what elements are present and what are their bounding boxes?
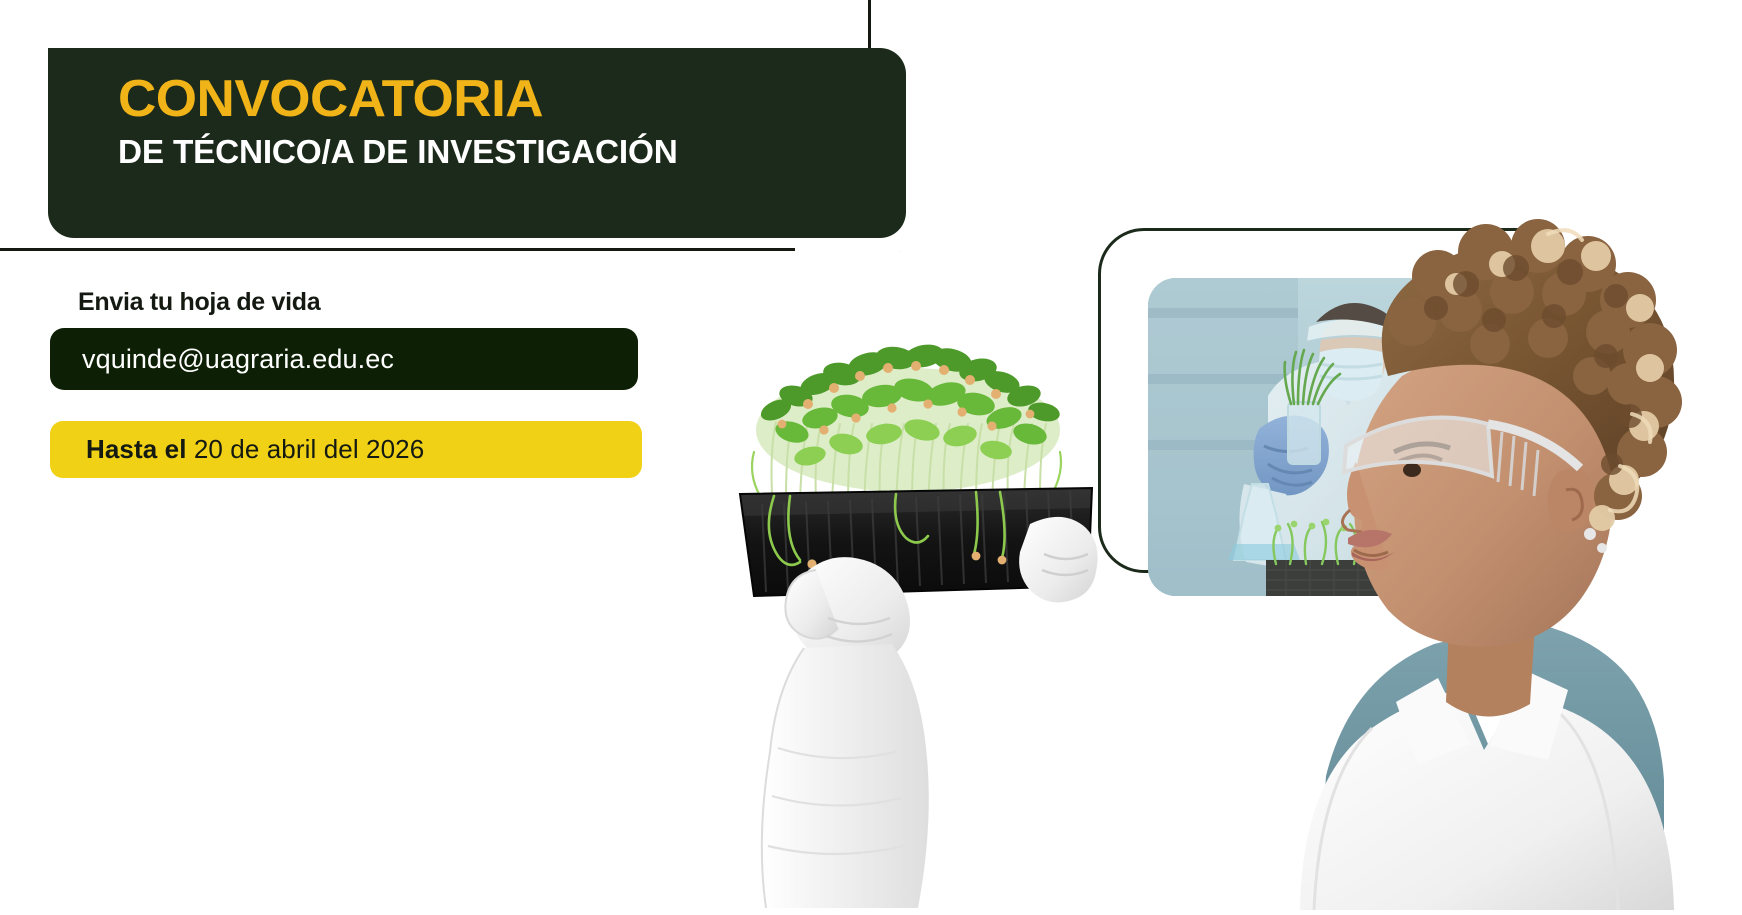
- deadline-bar: Hasta el 20 de abril del 2026: [50, 421, 642, 478]
- page-subtitle: DE TÉCNICO/A DE INVESTIGACIÓN: [118, 132, 678, 172]
- banner-accent-horizontal-line: [0, 248, 795, 251]
- email-contact-bar[interactable]: vquinde@uagraria.edu.ec: [50, 328, 638, 390]
- deadline-text: Hasta el 20 de abril del 2026: [50, 434, 424, 465]
- deadline-date: 20 de abril del 2026: [194, 434, 424, 464]
- sprout-tray-photo: [700, 318, 1120, 908]
- header-banner: CONVOCATORIA DE TÉCNICO/A DE INVESTIGACI…: [48, 48, 906, 238]
- email-address: vquinde@uagraria.edu.ec: [50, 344, 394, 375]
- page-title: CONVOCATORIA: [118, 70, 543, 128]
- scientist-portrait-photo: [1150, 180, 1742, 910]
- banner-accent-vertical-line: [868, 0, 871, 52]
- cta-label: Envia tu hoja de vida: [78, 288, 320, 317]
- deadline-prefix: Hasta el: [86, 434, 187, 464]
